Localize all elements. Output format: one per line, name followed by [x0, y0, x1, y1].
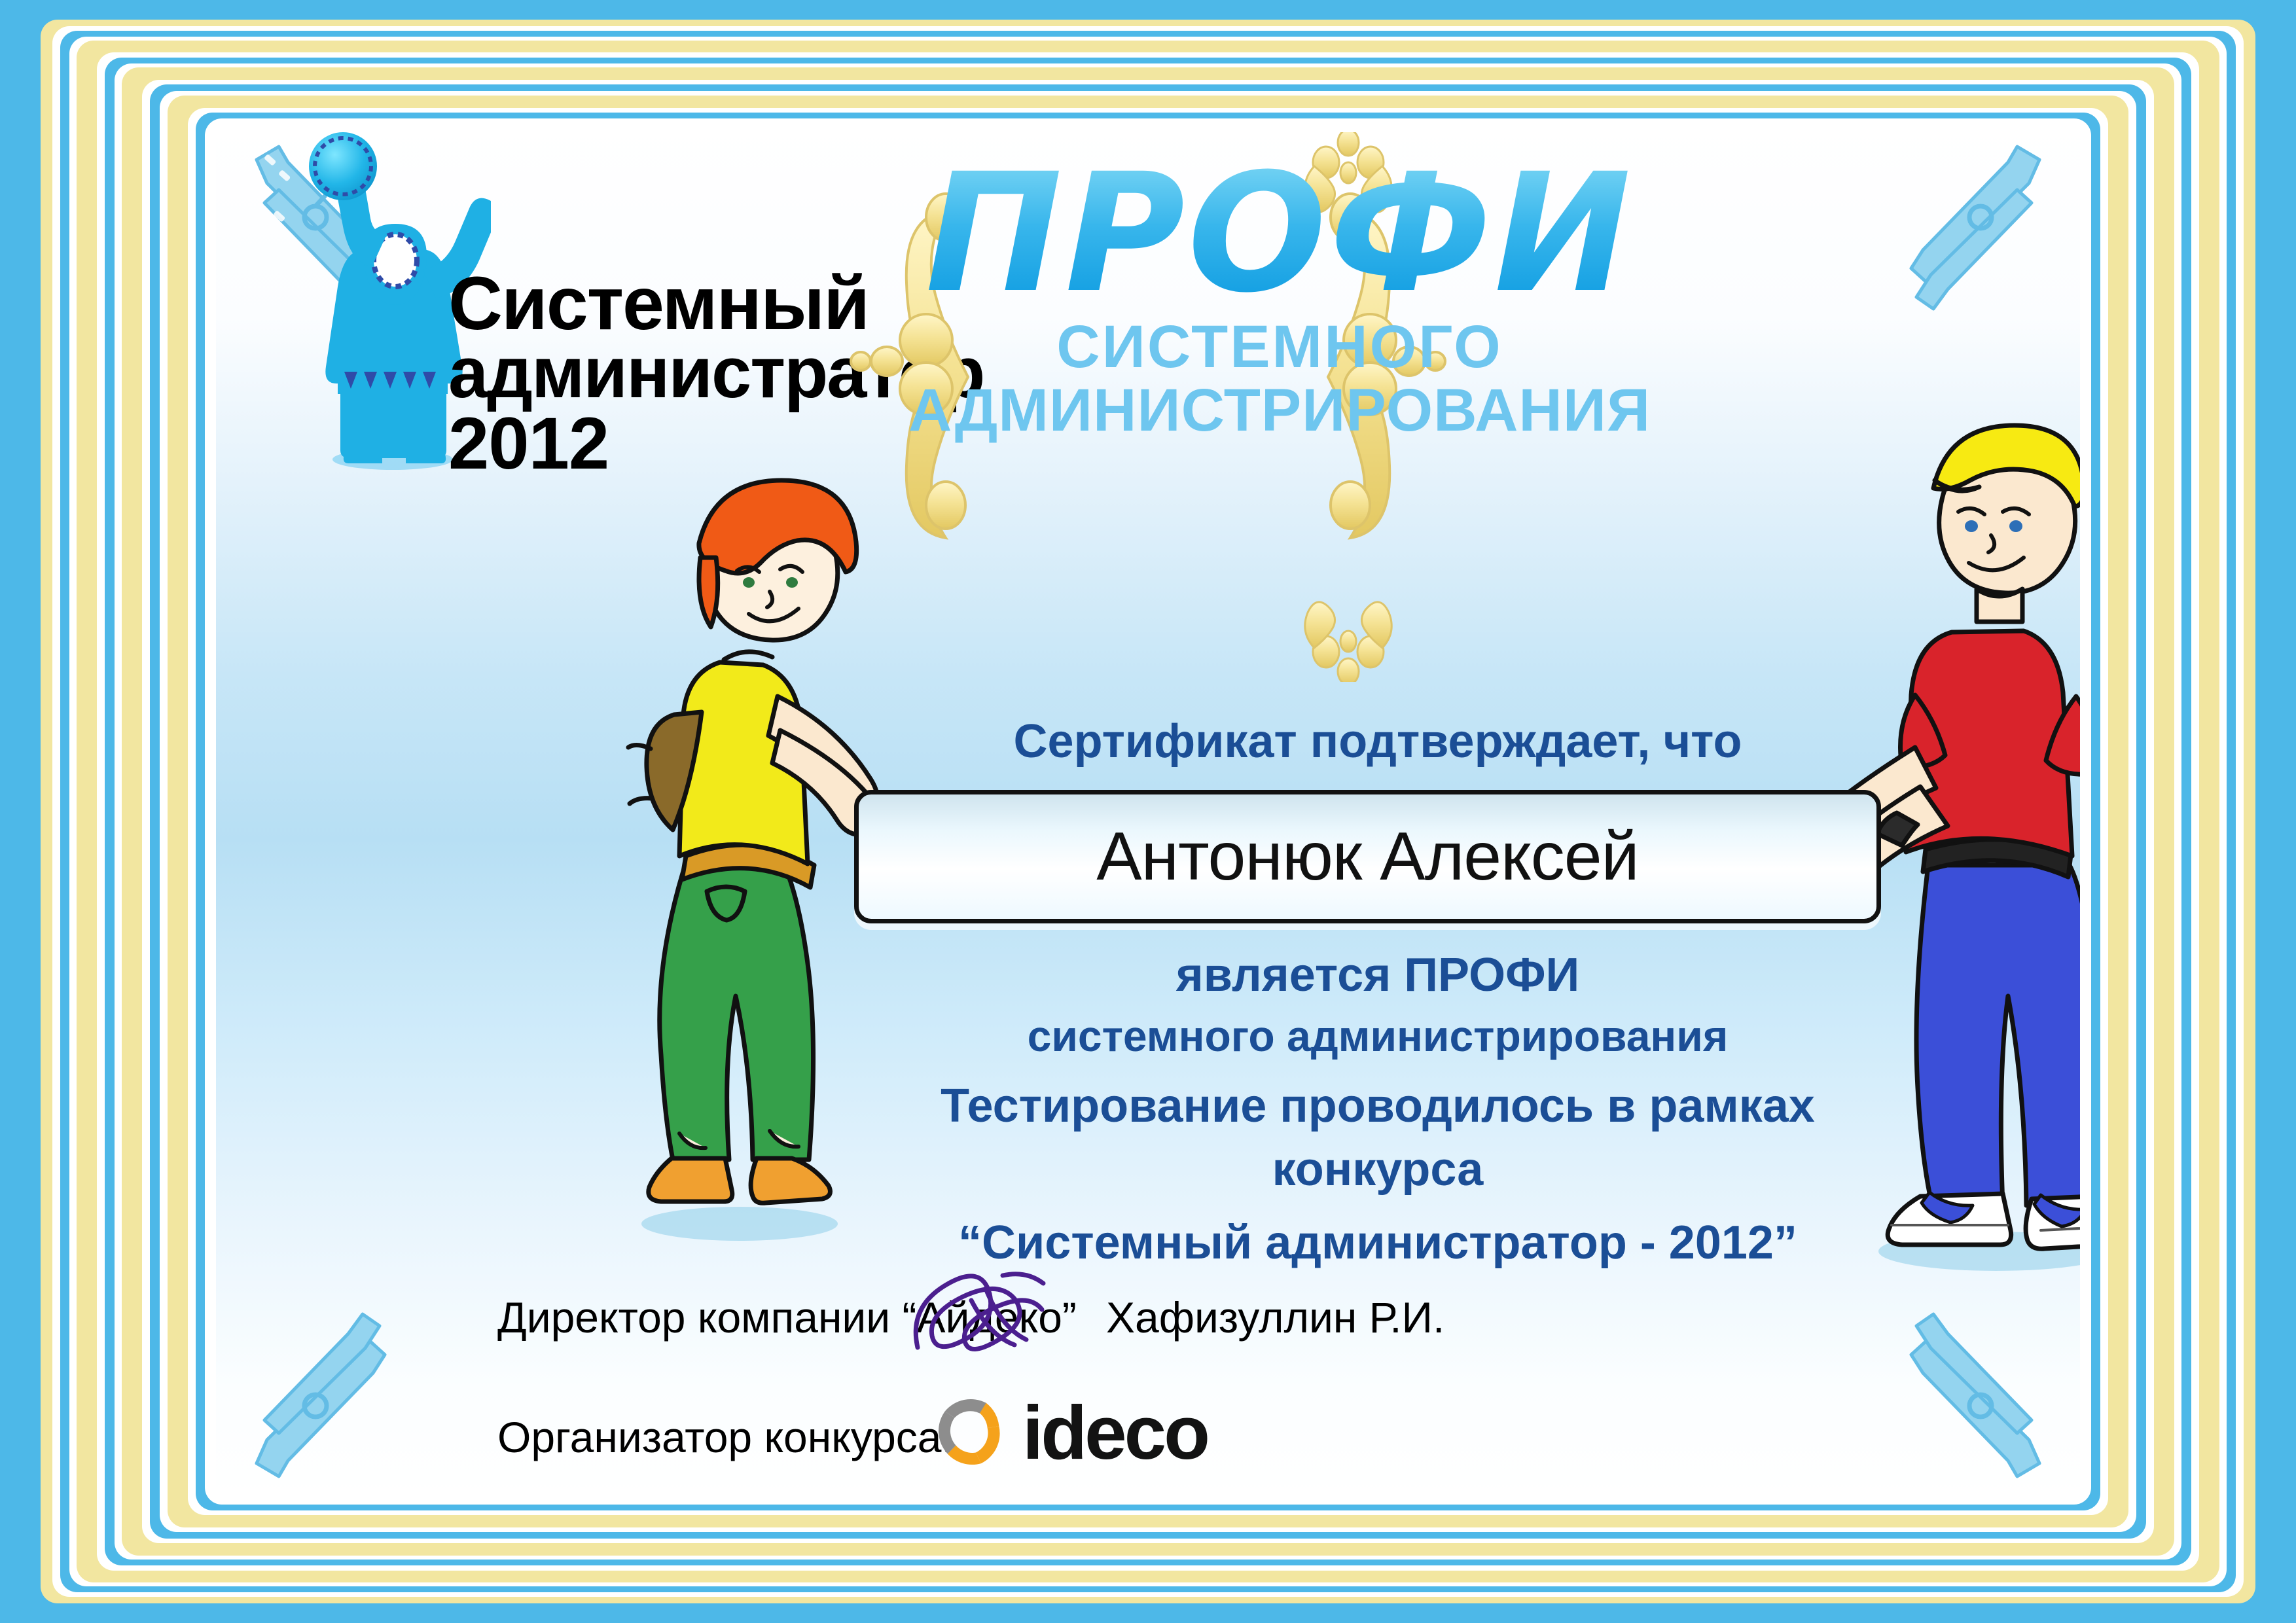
- confirm-line: Сертификат подтверждает, что: [870, 715, 1885, 768]
- crimping-tool-icon: [245, 1300, 441, 1483]
- body-line-2: системного администрирования: [838, 1007, 1918, 1065]
- profi-subtitle-2: АДМИНИСТРИРОВАНИЯ: [870, 379, 1689, 442]
- crimping-tool-icon: [1855, 140, 2051, 323]
- certificate-canvas: Системный администратор 2012: [216, 126, 2080, 1497]
- gold-flourish-bottom-icon: [1237, 584, 1460, 682]
- body-line-1: является ПРОФИ: [838, 944, 1918, 1007]
- bash-im-logo: bash.im ЦИТАТНИК РУНЕТА: [2019, 1491, 2080, 1497]
- signer-name: Хафизуллин Р.И.: [1106, 1293, 1444, 1342]
- certificate-body: является ПРОФИ системного администрирова…: [838, 944, 1918, 1275]
- ideco-mark-icon: [936, 1394, 1013, 1471]
- profi-emblem: ПРОФИ СИСТЕМНОГО АДМИНИСТРИРОВАНИЯ: [870, 152, 1689, 442]
- crimping-tool-icon: [1855, 1300, 2051, 1483]
- recipient-name: Антонюк Алексей: [1096, 818, 1638, 896]
- signature-row: Директор компании “Айдеко” Хафизуллин Р.…: [497, 1274, 1610, 1379]
- ideco-logo: ideco: [936, 1389, 1208, 1476]
- ideco-wordmark: ideco: [1022, 1389, 1208, 1476]
- organizer-label: Организатор конкурса:: [497, 1412, 954, 1462]
- handwritten-signature-icon: [903, 1261, 1080, 1366]
- bash-im-wordmark: bash.im: [2019, 1491, 2080, 1497]
- profi-word: ПРОФИ: [870, 152, 1689, 315]
- certificate-page: Системный администратор 2012: [0, 0, 2296, 1623]
- body-line-3: Тестирование проводилось в рамках конкур…: [838, 1075, 1918, 1202]
- recipient-nameplate: Антонюк Алексей: [854, 790, 1881, 923]
- organizer-row: Организатор конкурса: ideco: [497, 1389, 1414, 1497]
